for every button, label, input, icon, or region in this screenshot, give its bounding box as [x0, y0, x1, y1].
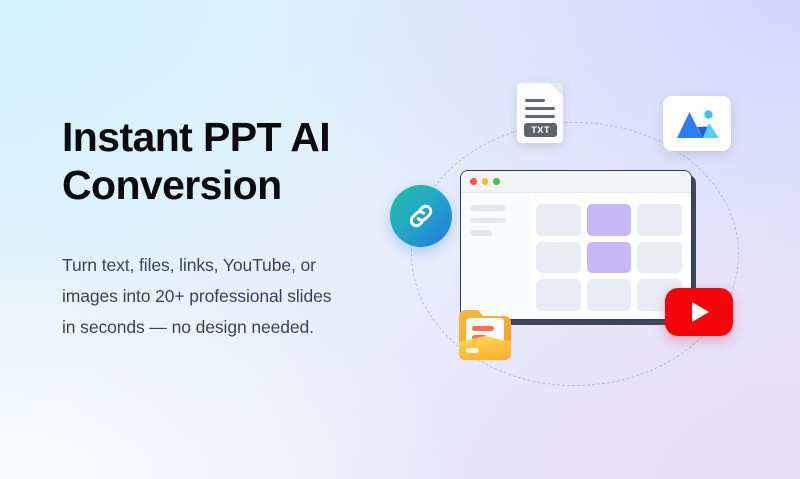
folder-icon: [455, 306, 515, 364]
play-triangle-icon: [692, 302, 709, 322]
subcopy-line-1: Turn text, files, links, YouTube, or: [62, 250, 402, 281]
page-title: Instant PPT AI Conversion: [62, 114, 402, 209]
slide-thumbnail: [587, 279, 632, 311]
slide-thumbnail: [536, 204, 581, 236]
slide-thumbnail: [637, 204, 682, 236]
link-icon-circle: [390, 185, 452, 247]
link-icon: [390, 185, 452, 247]
subcopy-line-2: images into 20+ professional slides: [62, 281, 402, 312]
hero-illustration: TXT: [385, 60, 785, 420]
folder-glyph: [455, 306, 515, 364]
sidebar-placeholder-bar: [470, 230, 492, 236]
image-icon-card: [663, 96, 731, 151]
chain-link-glyph: [404, 199, 438, 233]
youtube-icon-box: [665, 288, 733, 336]
txt-file-line: [525, 107, 555, 110]
subcopy-line-3: in seconds — no design needed.: [62, 312, 402, 343]
hero-subcopy: Turn text, files, links, YouTube, or ima…: [62, 209, 402, 343]
youtube-icon: [665, 288, 733, 336]
image-icon: [663, 96, 731, 151]
slide-thumbnail: [637, 242, 682, 274]
window-body: [461, 193, 691, 320]
headline-line-2: Conversion: [62, 162, 402, 210]
slide-thumbnail: [536, 242, 581, 274]
txt-file-icon: TXT: [517, 83, 563, 143]
txt-file-line: [525, 99, 545, 102]
close-dot-icon: [470, 178, 477, 185]
window-title-bar: [461, 171, 691, 193]
slide-thumbnail-selected: [587, 242, 632, 274]
mountain-photo-glyph: [674, 107, 720, 141]
hero-copy: Instant PPT AI Conversion Turn text, fil…: [62, 114, 402, 344]
window-sidebar: [461, 193, 530, 320]
hero-banner: Instant PPT AI Conversion Turn text, fil…: [0, 0, 800, 479]
slide-thumbnail: [536, 279, 581, 311]
sidebar-placeholder-bar: [470, 205, 506, 211]
slide-thumbnail-selected: [587, 204, 632, 236]
txt-file-badge-label: TXT: [524, 123, 557, 137]
txt-file-line: [525, 115, 555, 118]
maximize-dot-icon: [493, 178, 500, 185]
sidebar-placeholder-bar: [470, 218, 506, 224]
minimize-dot-icon: [482, 178, 489, 185]
slide-editor-window: [460, 170, 692, 320]
headline-line-1: Instant PPT AI: [62, 114, 330, 160]
